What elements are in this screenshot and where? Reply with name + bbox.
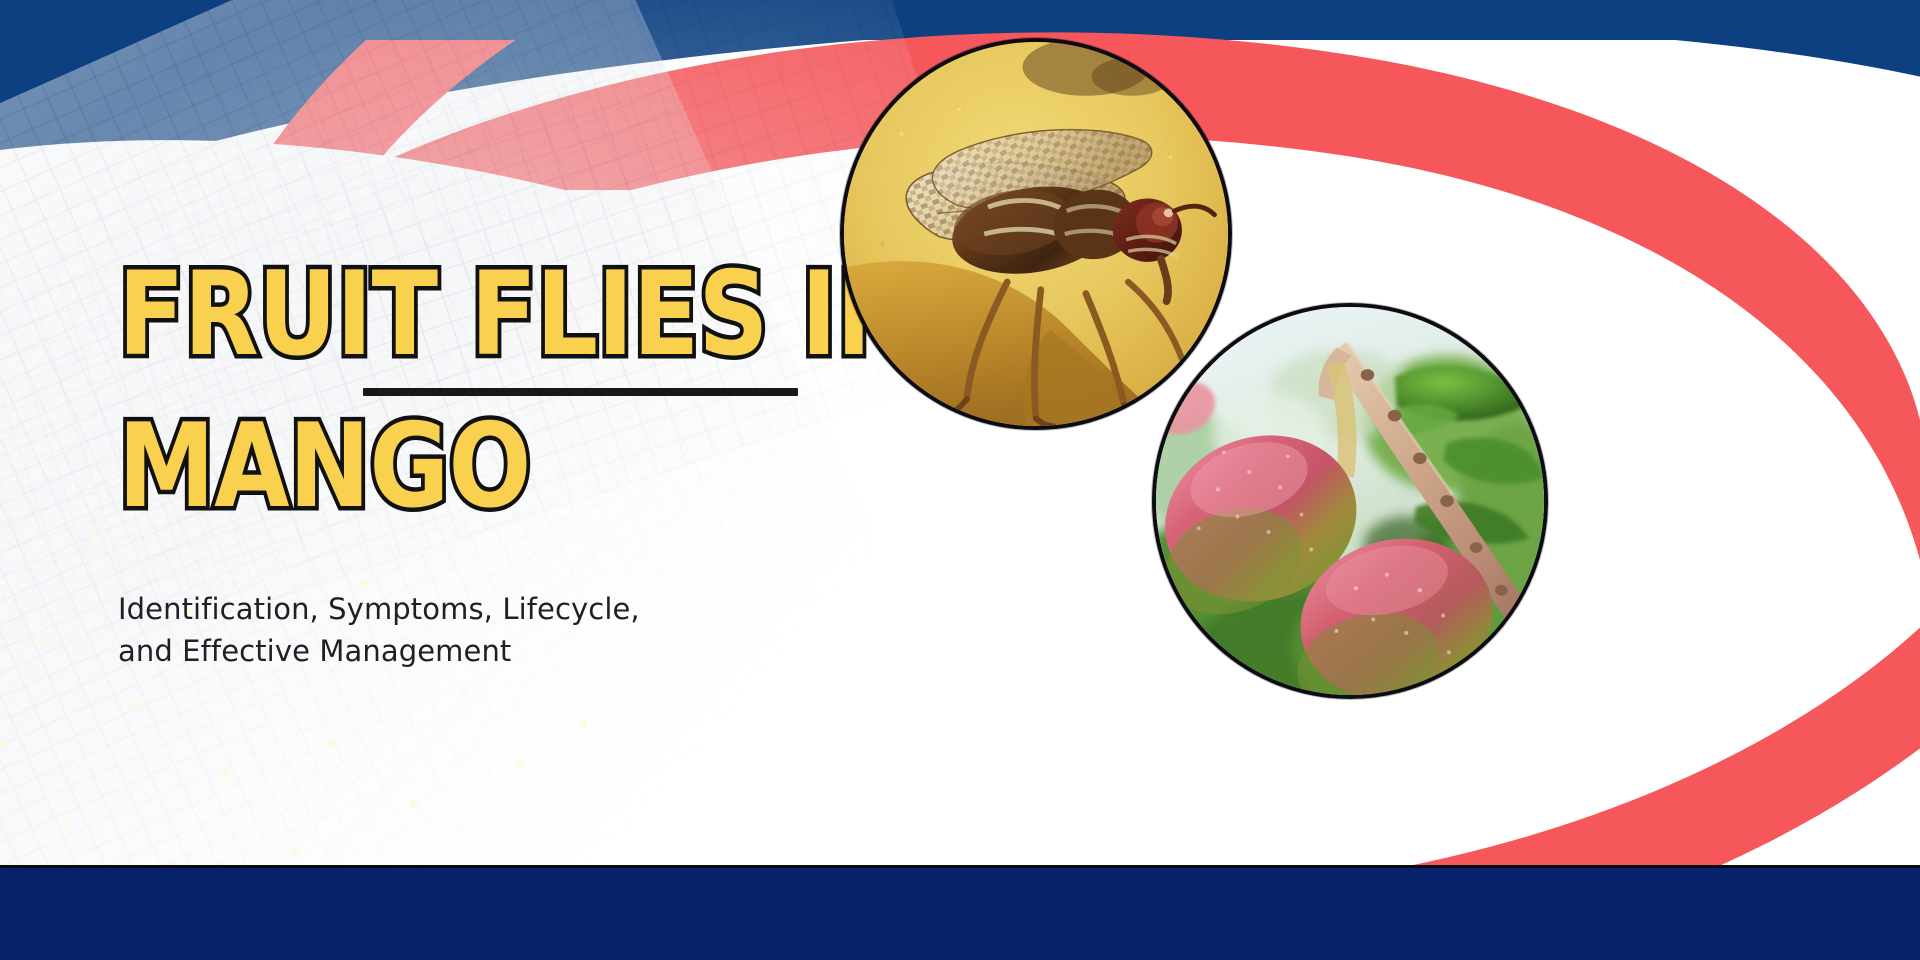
title-divider (363, 388, 798, 396)
headline-block: FRUIT FLIES IN MANGO Identification, Sym… (118, 258, 878, 672)
title-line-2: MANGO (118, 410, 756, 524)
fruit-fly-photo (840, 38, 1232, 430)
footer-bar (0, 865, 1920, 960)
mango-fruit-photo (1152, 303, 1548, 699)
fruit-fly-illustration (844, 42, 1228, 426)
banner-canvas: FRUIT FLIES IN MANGO Identification, Sym… (0, 0, 1920, 960)
mango-illustration (1156, 307, 1544, 695)
banner-subtitle: Identification, Symptoms, Lifecycle, and… (118, 589, 678, 671)
title-line-1: FRUIT FLIES IN (118, 258, 756, 372)
